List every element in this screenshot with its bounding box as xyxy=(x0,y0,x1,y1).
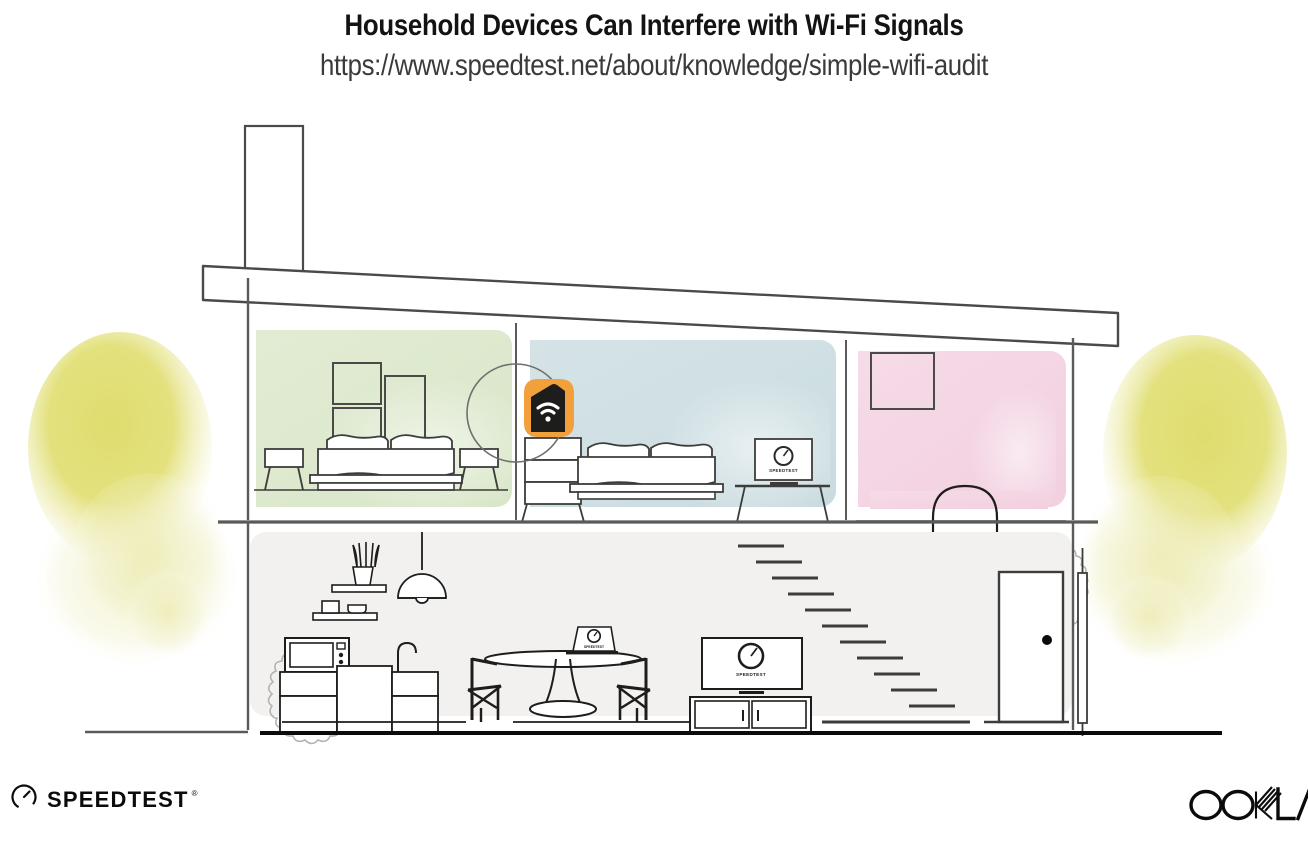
infographic-page: Household Devices Can Interfere with Wi-… xyxy=(0,0,1308,861)
tv-group: SPEEDTEST xyxy=(702,638,802,694)
shelf-unit xyxy=(522,438,584,522)
speedtest-wordmark: SPEEDTEST xyxy=(47,787,189,813)
speedometer-icon xyxy=(10,783,38,816)
speedtest-trademark: ® xyxy=(192,789,198,798)
bed-blue xyxy=(570,443,723,499)
page-title: Household Devices Can Interfere with Wi-… xyxy=(92,0,1217,43)
bed-green xyxy=(310,435,462,490)
source-url: https://www.speedtest.net/about/knowledg… xyxy=(92,43,1217,83)
wifi-router[interactable] xyxy=(524,379,574,437)
speedtest-logo[interactable]: SPEEDTEST ® xyxy=(10,783,198,816)
svg-text:SPEEDTEST: SPEEDTEST xyxy=(584,645,605,649)
room-ground-floor: SPEEDTEST xyxy=(248,522,1087,744)
ookla-la-glyphs xyxy=(1278,788,1308,819)
ookla-wordmark-glyphs xyxy=(1191,792,1253,819)
chimney xyxy=(245,126,303,276)
media-console xyxy=(690,697,811,732)
house-illustration: SPEEDTEST xyxy=(0,108,1308,748)
foliage-right xyxy=(1075,335,1287,663)
svg-text:SPEEDTEST: SPEEDTEST xyxy=(736,672,766,677)
svg-text:SPEEDTEST: SPEEDTEST xyxy=(769,468,798,473)
footer: SPEEDTEST ® xyxy=(0,761,1308,861)
room-bedroom-green xyxy=(254,330,512,507)
bedroom-monitor: SPEEDTEST xyxy=(755,439,812,485)
ookla-logo[interactable]: ® xyxy=(1186,783,1308,832)
header: Household Devices Can Interfere with Wi-… xyxy=(0,0,1308,83)
foliage-left xyxy=(28,332,237,663)
entry-door[interactable] xyxy=(999,572,1063,722)
side-window xyxy=(1078,548,1087,736)
